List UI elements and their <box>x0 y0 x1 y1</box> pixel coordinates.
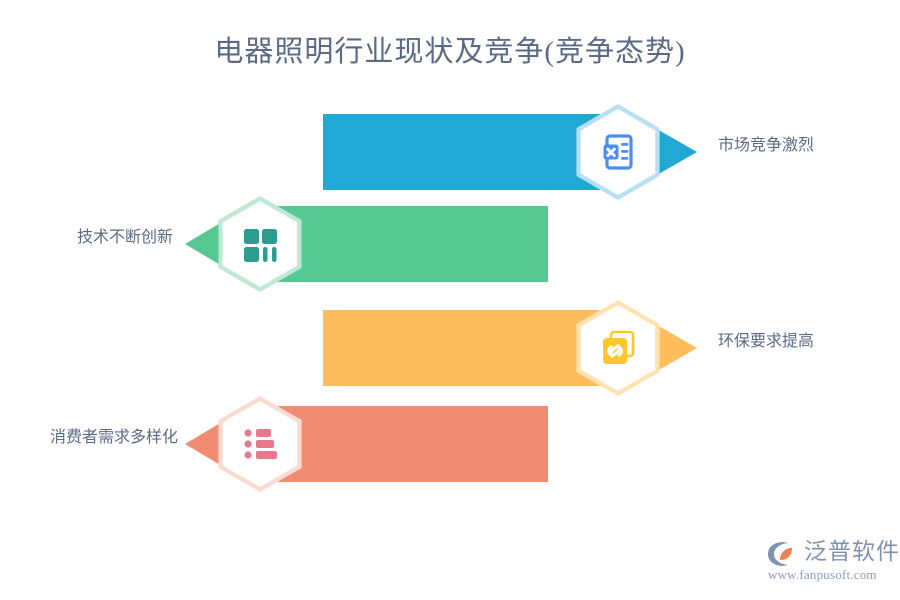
brand-logo: 泛普软件 www.fanpusoft.com <box>766 538 890 586</box>
bar-label-3: 环保要求提高 <box>718 330 814 354</box>
infographic-canvas: 电器照明行业现状及竞争(竞争态势) 市场竞争激烈 <box>0 0 900 600</box>
badge-1 <box>570 104 666 200</box>
bar-label-2: 技术不断创新 <box>0 226 181 250</box>
badge-2 <box>212 196 308 292</box>
bar-row-3: 环保要求提高 <box>0 300 900 396</box>
bar-label-1: 市场竞争激烈 <box>718 134 814 158</box>
bar-row-4: 消费者需求多样化 <box>0 396 900 492</box>
logo-company-name: 泛普软件 <box>804 538 900 566</box>
bar-row-1: 市场竞争激烈 <box>0 104 900 200</box>
badge-4 <box>212 396 308 492</box>
page-title: 电器照明行业现状及竞争(竞争态势) <box>0 32 900 72</box>
fanpu-logo-mark-icon <box>766 540 800 568</box>
logo-website-url: www.fanpusoft.com <box>768 567 877 583</box>
badge-3 <box>570 300 666 396</box>
bar-label-4: 消费者需求多样化 <box>0 426 186 450</box>
bullet-list-icon <box>212 396 308 492</box>
document-x-icon <box>570 104 666 200</box>
link-cards-icon <box>570 300 666 396</box>
dashboard-grid-icon <box>212 196 308 292</box>
bar-row-2: 技术不断创新 <box>0 196 900 292</box>
